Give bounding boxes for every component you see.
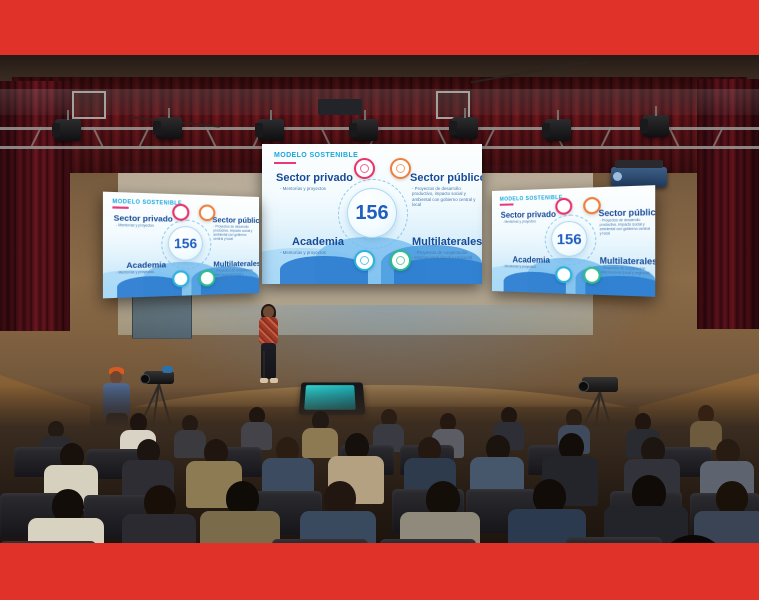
slide-bubble-multilaterales: [390, 250, 411, 271]
slide-bubble-academia: [354, 250, 375, 271]
globe-icon: [396, 256, 405, 265]
slide-bubble-sector-publico: [390, 158, 411, 179]
audience-area: [0, 385, 759, 543]
lighting-truss: [0, 89, 759, 115]
slide-node-title-sector-publico: Sector público: [599, 207, 656, 218]
truss-segment-box: [72, 91, 106, 119]
overhead-equipment: [318, 99, 362, 115]
graduation-icon: [360, 256, 369, 265]
slide-node-sub-multilaterales: - Proyectos de cooperación internacional…: [601, 267, 651, 277]
slide-left: MODELO SOSTENIBLE 156 Sector privado - M…: [103, 192, 259, 299]
slide-node-sub-sector-privado: - Mentorías y proyectos: [280, 186, 354, 191]
audience-person: [300, 481, 376, 543]
stage-light: [352, 119, 378, 141]
audience-person-foreground: [640, 535, 750, 543]
slide-node-sub-sector-privado: - Mentorías y proyectos: [116, 224, 170, 229]
led-screen-right: MODELO SOSTENIBLE 156 Sector privado - M…: [492, 185, 655, 297]
slide-node-sub-sector-publico: - Proyectos de desarrollo productivo, im…: [412, 186, 478, 208]
slide-node-sub-sector-privado: - Mentorías y proyectos: [503, 220, 551, 225]
slide-brand: MODELO SOSTENIBLE: [500, 195, 563, 203]
slide-bubble-academia: [555, 266, 572, 283]
audience-person: [28, 489, 104, 543]
audience-person: [508, 479, 586, 543]
slide-bubble-multilaterales: [583, 267, 601, 285]
slide-node-sub-multilaterales: - Proyectos de cooperación internacional…: [214, 269, 256, 282]
audience-person: [400, 481, 480, 543]
slide-brand: MODELO SOSTENIBLE: [274, 152, 358, 159]
slide-bubble-sector-privado: [172, 204, 189, 221]
slide-center: MODELO SOSTENIBLE 156 Sector privado - M…: [262, 144, 482, 284]
slide-node-sub-sector-publico: - Proyectos de desarrollo productivo, im…: [213, 225, 256, 241]
presenter: [256, 306, 282, 386]
led-screen-center: MODELO SOSTENIBLE 156 Sector privado - M…: [262, 144, 482, 284]
frame-band-bottom: [0, 543, 759, 600]
slide-hub-ring: [545, 214, 596, 266]
presenter-shoe: [270, 378, 278, 383]
slide-node-title-sector-privado: Sector privado: [501, 210, 556, 220]
presenter-shoe: [260, 378, 268, 383]
stage-light: [643, 115, 669, 137]
slide-node-sub-multilaterales: - Proyectos de cooperación internacional…: [414, 250, 478, 261]
handshake-icon: [360, 164, 369, 173]
stage-light: [258, 119, 284, 141]
projector: [611, 167, 667, 187]
slide-node-title-sector-publico: Sector público: [410, 172, 482, 184]
slide-brand-underline: [112, 206, 128, 209]
stage-light: [452, 117, 478, 139]
slide-node-sub-sector-publico: - Proyectos de desarrollo productivo, im…: [600, 219, 651, 237]
projector-lens-icon: [613, 172, 622, 181]
stage-light: [55, 119, 81, 141]
stage-light: [545, 119, 571, 141]
audience-person: [200, 481, 280, 543]
audience-person: [122, 485, 196, 543]
slide-brand-underline: [274, 162, 296, 164]
led-screen-left: MODELO SOSTENIBLE 156 Sector privado - M…: [103, 192, 259, 299]
government-icon: [396, 164, 405, 173]
camera-lens-icon: [140, 374, 150, 384]
slide-node-sub-academia: - Mentorías y proyectos: [280, 250, 354, 255]
slide-node-title-multilaterales: Multilaterales: [412, 236, 482, 248]
slide-node-title-academia: Academia: [292, 236, 344, 248]
slide-bubble-sector-publico: [199, 204, 216, 221]
framed-photo: MODELO SOSTENIBLE 156 Sector privado - M…: [0, 0, 759, 600]
stage-curtain-right: [697, 79, 759, 329]
photo-canvas: MODELO SOSTENIBLE 156 Sector privado - M…: [0, 55, 759, 543]
slide-node-title-sector-privado: Sector privado: [276, 172, 353, 184]
audience-person: [604, 475, 688, 543]
slide-brand-underline: [500, 203, 514, 205]
slide-bubble-sector-privado: [555, 198, 572, 215]
audience-person: [694, 481, 759, 543]
frame-band-top: [0, 0, 759, 55]
presenter-top: [259, 317, 278, 344]
slide-node-title-academia: Academia: [126, 260, 166, 270]
slide-right: MODELO SOSTENIBLE 156 Sector privado - M…: [492, 185, 655, 297]
camera-monitor: [162, 366, 173, 373]
slide-bubble-sector-privado: [354, 158, 375, 179]
